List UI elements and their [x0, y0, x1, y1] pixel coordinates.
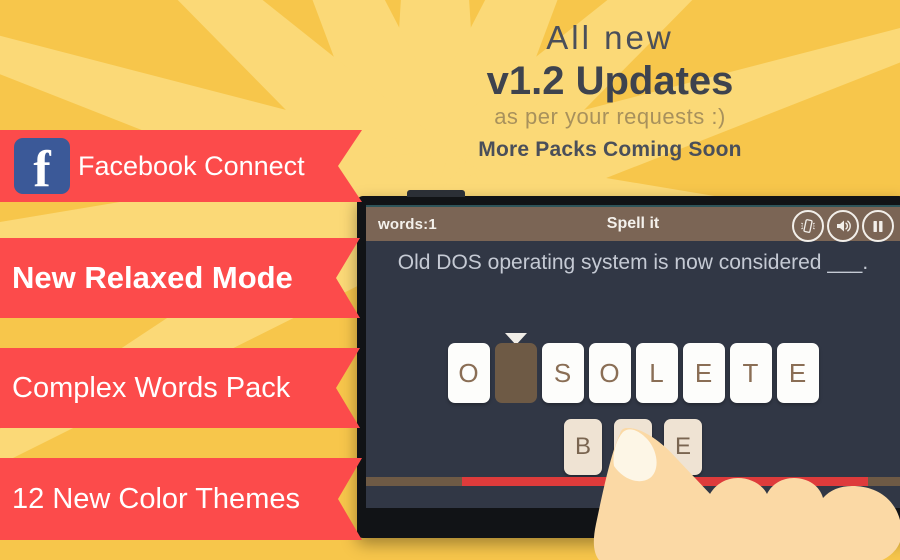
ribbon-color-themes[interactable]: 12 New Color Themes — [0, 458, 362, 540]
ribbon-label: 12 New Color Themes — [12, 483, 300, 516]
promo-note: More Packs Coming Soon — [330, 137, 890, 162]
promo-banner: All new v1.2 Updates as per your request… — [0, 0, 900, 560]
ribbon-label: Facebook Connect — [78, 151, 305, 182]
promo-eyebrow: All new — [330, 20, 890, 56]
ribbon-facebook-connect[interactable]: f Facebook Connect — [0, 130, 362, 202]
ribbon-complex-words-pack[interactable]: Complex Words Pack — [0, 348, 360, 428]
promo-title: v1.2 Updates — [330, 58, 890, 104]
ribbon-label: New Relaxed Mode — [12, 260, 293, 296]
promo-subtitle: as per your requests :) — [330, 104, 890, 130]
promo-headline: All new v1.2 Updates as per your request… — [330, 8, 890, 162]
ribbon-label: Complex Words Pack — [12, 372, 290, 405]
ribbon-relaxed-mode[interactable]: New Relaxed Mode — [0, 238, 360, 318]
facebook-icon: f — [14, 138, 70, 194]
